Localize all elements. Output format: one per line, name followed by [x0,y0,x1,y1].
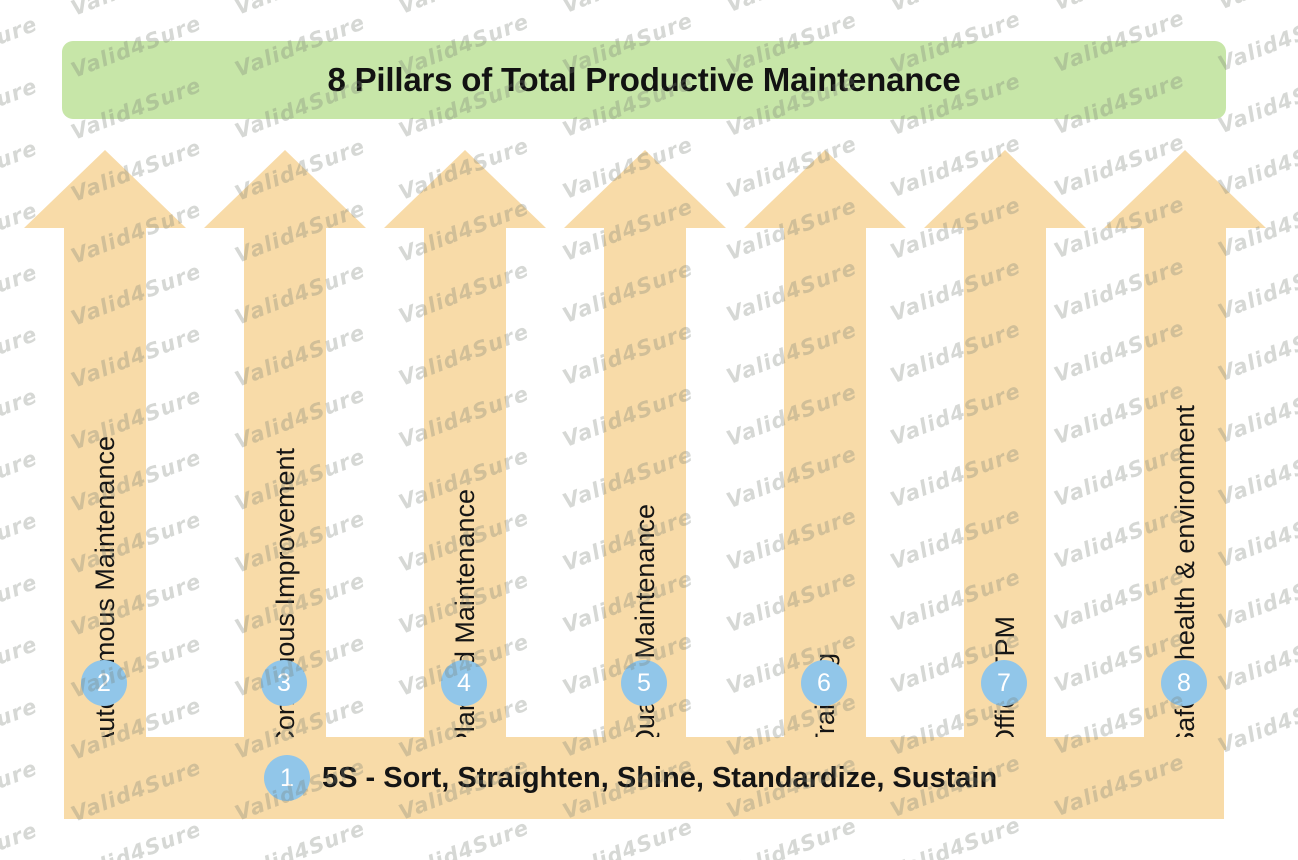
pillar-badge-5: 5 [621,660,667,706]
foundation-badge: 1 [264,755,310,801]
pillar-badge-3: 3 [261,660,307,706]
pillar-badge-2: 2 [81,660,127,706]
foundation-badge-number: 1 [280,766,294,791]
pillar-badge-7: 7 [981,660,1027,706]
pillar-badge-number: 5 [637,671,651,696]
foundation-label: 5S - Sort, Straighten, Shine, Standardiz… [322,762,997,795]
pillar-badge-number: 8 [1177,671,1191,696]
pillar-badge-number: 2 [97,671,111,696]
pillar-badge-4: 4 [441,660,487,706]
pillars-group: Autonomous Maintenance 2 Continuous Impr… [0,0,1298,860]
pillar-badge-number: 6 [817,671,831,696]
pillar-badge-number: 7 [997,671,1011,696]
pillar-badge-8: 8 [1161,660,1207,706]
diagram-canvas: 8 Pillars of Total Productive Maintenanc… [0,0,1298,860]
pillar-badge-number: 3 [277,671,291,696]
pillar-badge-6: 6 [801,660,847,706]
pillar-badge-number: 4 [457,671,471,696]
